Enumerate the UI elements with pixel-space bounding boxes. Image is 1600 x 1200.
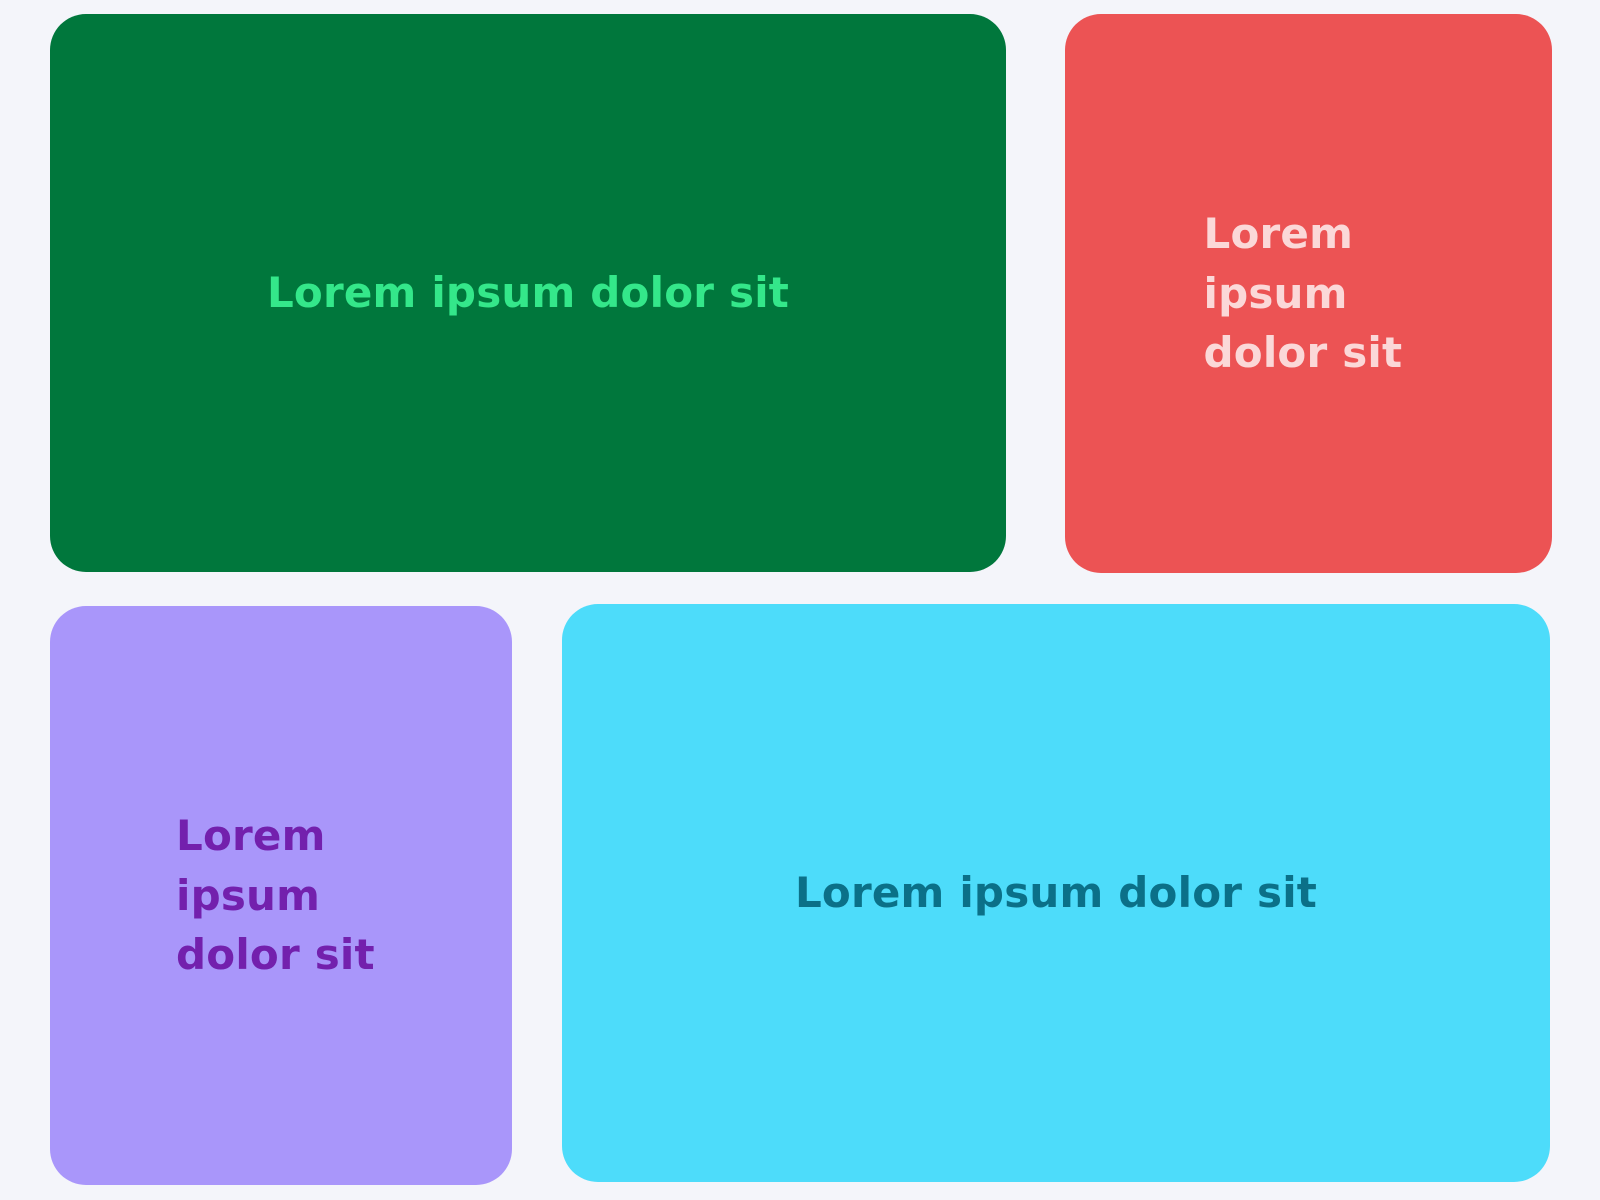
tile-green[interactable]: Lorem ipsum dolor sit [50, 14, 1006, 572]
tile-green-label: Lorem ipsum dolor sit [267, 263, 789, 323]
tile-purple-label: Lorem ipsum dolor sit [176, 806, 386, 985]
tile-red[interactable]: Lorem ipsum dolor sit [1065, 14, 1552, 573]
tile-red-label: Lorem ipsum dolor sit [1204, 204, 1414, 383]
tile-cyan-label: Lorem ipsum dolor sit [795, 863, 1317, 923]
tile-purple[interactable]: Lorem ipsum dolor sit [50, 606, 512, 1185]
tile-grid: Lorem ipsum dolor sit Lorem ipsum dolor … [0, 0, 1600, 1200]
tile-cyan[interactable]: Lorem ipsum dolor sit [562, 604, 1550, 1182]
